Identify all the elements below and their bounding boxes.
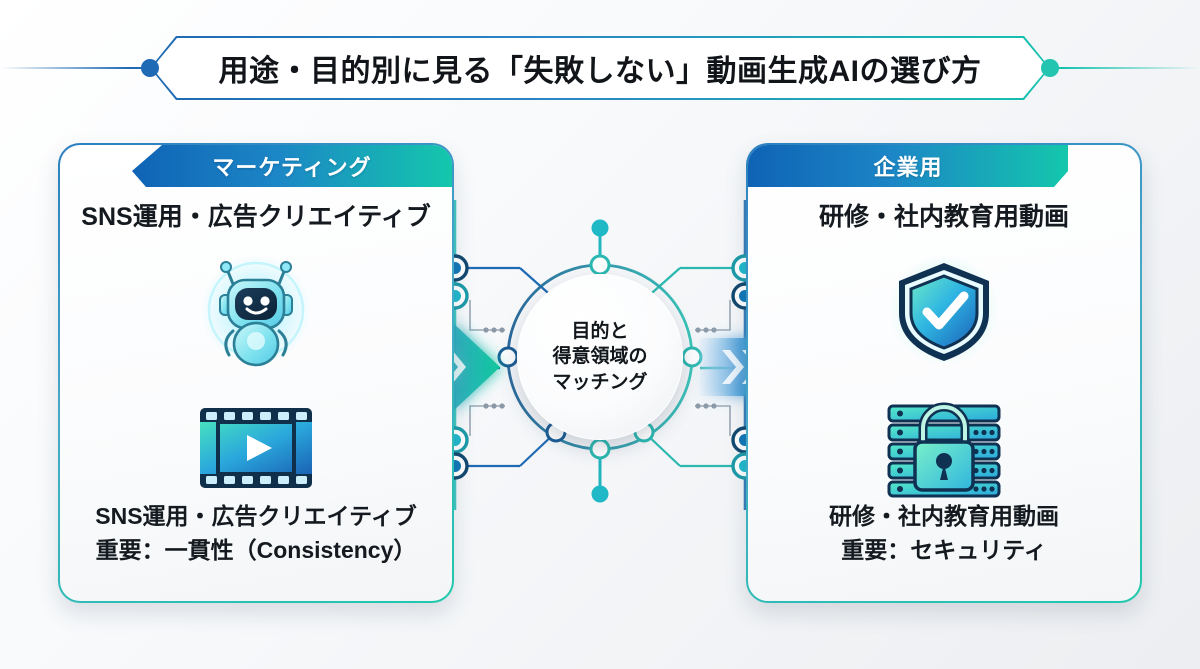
page-title-banner: 用途・目的別に見る「失敗しない」動画生成AIの選び方 [150, 36, 1050, 100]
shield-check-icon [874, 245, 1014, 375]
card-enterprise-title: 研修・社内教育用動画 [748, 197, 1140, 233]
center-hub-circle: 目的と 得意領域の マッチング [517, 274, 683, 440]
page-title: 用途・目的別に見る「失敗しない」動画生成AIの選び方 [150, 36, 1050, 100]
card-enterprise-header: 企業用 [748, 145, 1068, 187]
card-enterprise[interactable]: 企業用 研修・社内教育用動画 [746, 143, 1142, 603]
card-marketing-title: SNS運用・広告クリエイティブ [60, 197, 452, 233]
center-hub-line3: マッチング [552, 370, 647, 395]
card-marketing-footer-line2: 重要：一貫性（Consistency） [60, 534, 452, 567]
title-node-dot-right [1041, 59, 1059, 77]
title-connector-line-right [1048, 67, 1200, 69]
robot-icon [186, 245, 326, 375]
card-marketing-header-label: マーケティング [212, 150, 371, 182]
card-marketing-footer-line1: SNS運用・広告クリエイティブ [60, 500, 452, 533]
card-enterprise-footer: 研修・社内教育用動画 重要：セキュリティ [748, 500, 1140, 567]
card-marketing-header: マーケティング [132, 145, 452, 187]
card-enterprise-footer-line1: 研修・社内教育用動画 [748, 500, 1140, 533]
center-hub-line2: 得意領域の [552, 344, 647, 369]
card-marketing-footer: SNS運用・広告クリエイティブ 重要：一貫性（Consistency） [60, 500, 452, 567]
center-hub-line1: 目的と [552, 319, 647, 344]
center-hub: 目的と 得意領域の マッチング [495, 252, 705, 462]
server-lock-icon [874, 383, 1014, 513]
infographic-canvas: 用途・目的別に見る「失敗しない」動画生成AIの選び方 マーケティング SNS運用… [0, 0, 1200, 669]
title-node-dot-left [141, 59, 159, 77]
title-connector-line-left [0, 67, 152, 69]
card-enterprise-footer-line2: 重要：セキュリティ [748, 534, 1140, 567]
card-marketing[interactable]: マーケティング SNS運用・広告クリエイティブ [58, 143, 454, 603]
card-enterprise-header-label: 企業用 [873, 150, 942, 182]
film-strip-play-icon [186, 383, 326, 513]
